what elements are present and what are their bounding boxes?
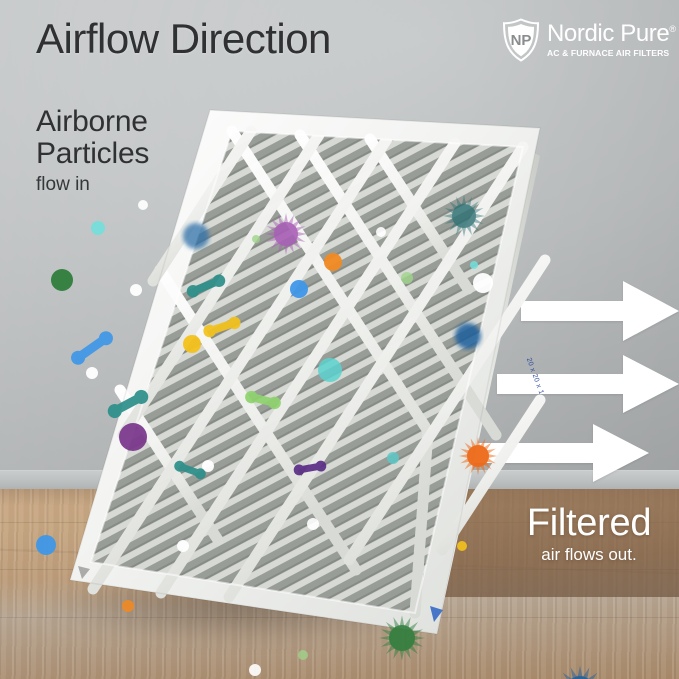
brand-name: Nordic Pure® xyxy=(547,22,676,46)
registered-mark: ® xyxy=(669,24,675,34)
air-filter-product: 20 x 20 x 1 xyxy=(0,0,679,679)
infographic-canvas: 20 x 20 x 1 Airflow Direction Airborne P… xyxy=(0,0,679,679)
brand-tagline: AC & FURNACE AIR FILTERS xyxy=(547,49,676,58)
air-filter-svg xyxy=(0,0,679,679)
filtered-line-2: air flows out. xyxy=(513,544,665,566)
brand-name-text: Nordic Pure xyxy=(547,20,669,47)
caption-line-2: Particles xyxy=(36,138,149,170)
page-title: Airflow Direction xyxy=(36,18,331,60)
airborne-particles-caption: Airborne Particles flow in xyxy=(36,106,149,198)
shield-monogram: NP xyxy=(511,32,532,49)
filtered-line-1: Filtered xyxy=(513,502,665,544)
shield-badge-icon: NP xyxy=(502,18,540,62)
brand-logo: NP Nordic Pure® AC & FURNACE AIR FILTERS xyxy=(502,18,676,62)
caption-line-1: Airborne xyxy=(36,106,149,138)
brand-wordmark: Nordic Pure® AC & FURNACE AIR FILTERS xyxy=(547,22,676,58)
caption-line-3: flow in xyxy=(36,172,149,198)
filtered-air-caption: Filtered air flows out. xyxy=(513,502,665,566)
